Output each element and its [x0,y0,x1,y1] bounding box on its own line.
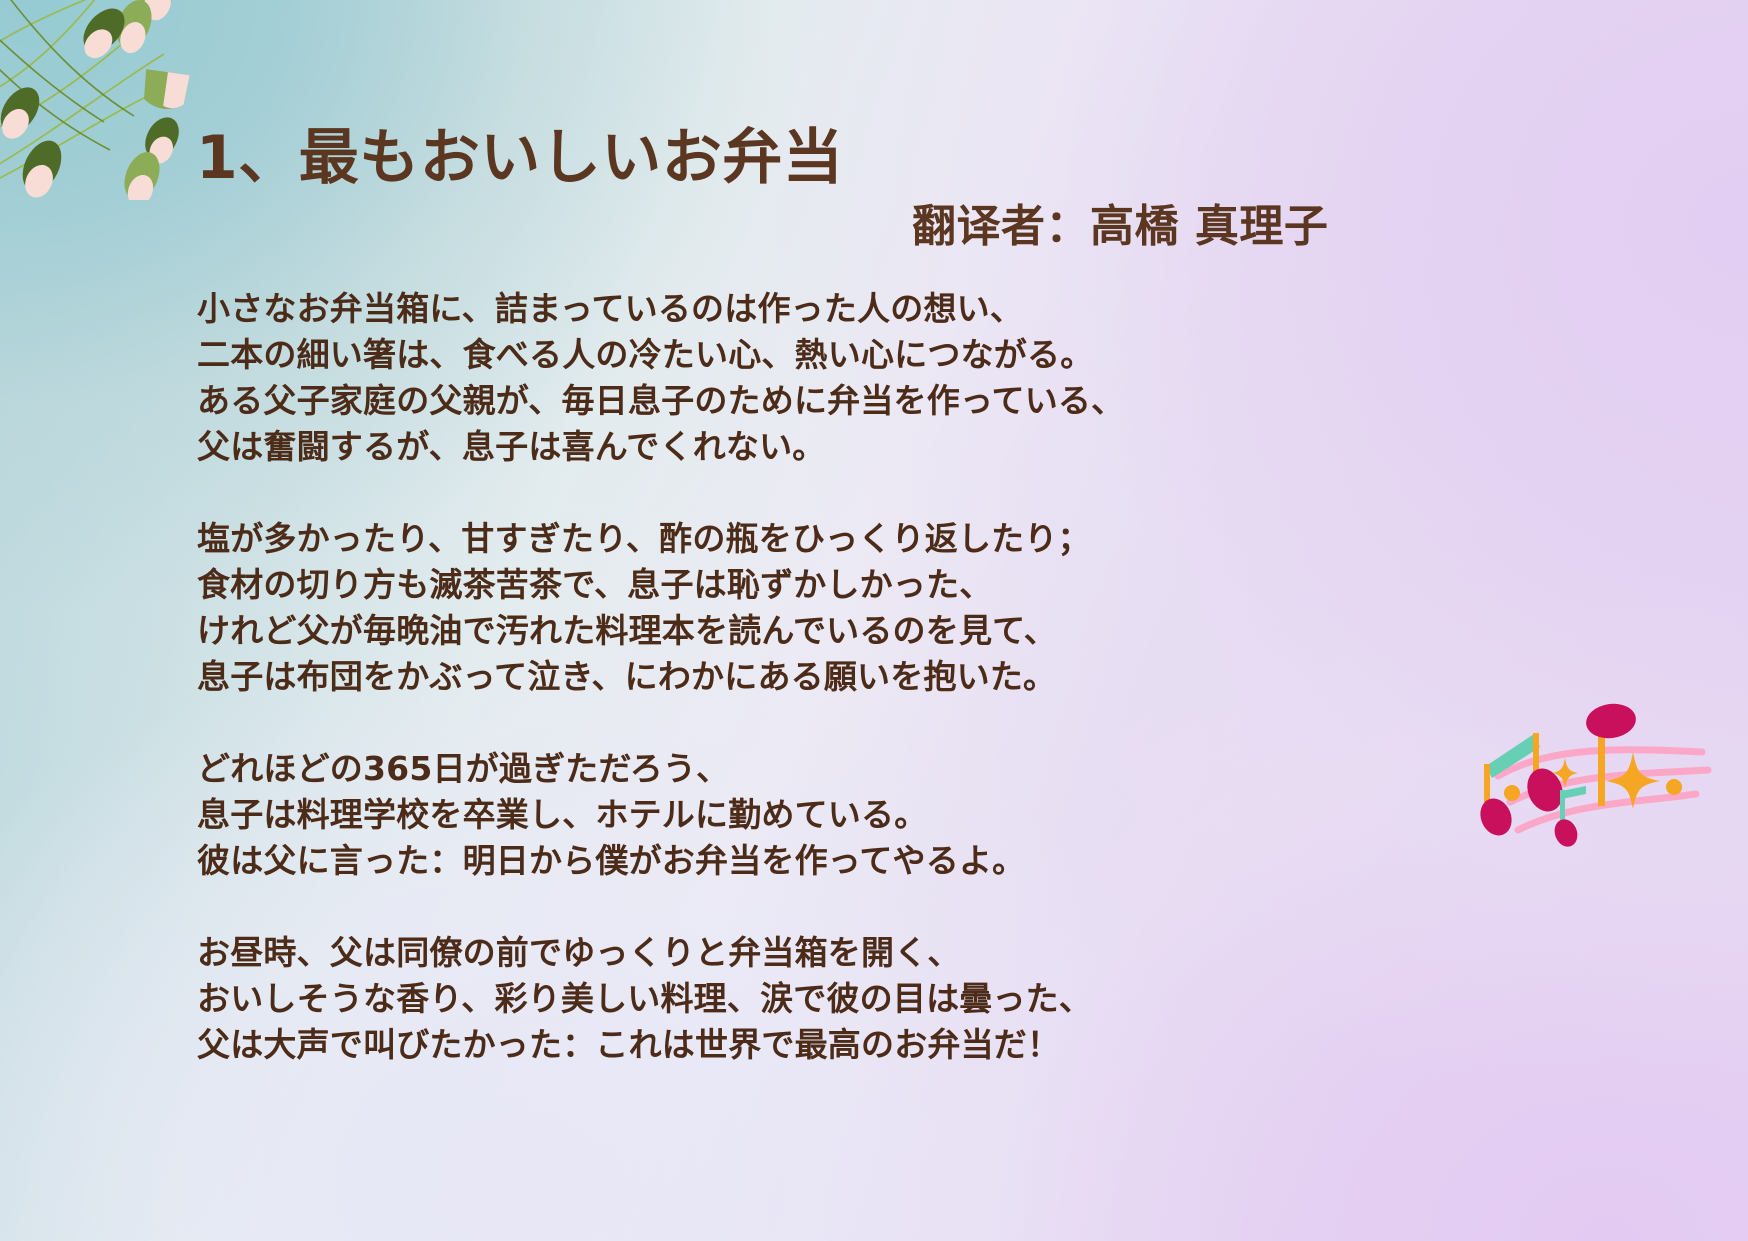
poem-line: 塩が多かったり、甘すぎたり、酢の瓶をひっくり返したり； [197,516,1397,562]
poem-line: ある父子家庭の父親が、毎日息子のために弁当を作っている、 [197,378,1397,424]
poem-line: 食材の切り方も滅茶苦茶で、息子は恥ずかしかった、 [197,562,1397,608]
slide-canvas: 1、最もおいしいお弁当 翻译者：高橋 真理子 小さなお弁当箱に、詰まっているのは… [0,0,1748,1241]
stanza: 塩が多かったり、甘すぎたり、酢の瓶をひっくり返したり； 食材の切り方も滅茶苦茶で… [197,516,1397,700]
poem-line: おいしそうな香り、彩り美しい料理、涙で彼の目は曇った、 [197,976,1397,1022]
music-notes-icon [1470,690,1748,855]
stanza: 小さなお弁当箱に、詰まっているのは作った人の想い、 二本の細い箸は、食べる人の冷… [197,286,1397,470]
poem-line: 息子は料理学校を卒業し、ホテルに勤めている。 [197,792,1397,838]
poem-line: 父は大声で叫びたかった：これは世界で最高のお弁当だ！ [197,1022,1397,1068]
page-title: 1、最もおいしいお弁当 [196,109,843,196]
floral-buds-icon [0,0,216,200]
translator-credit: 翻译者：高橋 真理子 [912,190,1328,254]
poem-line: どれほどの365日が過ぎただろう、 [197,746,1397,792]
poem-line: 小さなお弁当箱に、詰まっているのは作った人の想い、 [197,286,1397,332]
poem-line: けれど父が毎晩油で汚れた料理本を読んでいるのを見て、 [197,608,1397,654]
poem-line: 息子は布団をかぶって泣き、にわかにある願いを抱いた。 [197,654,1397,700]
poem-line: 彼は父に言った：明日から僕がお弁当を作ってやるよ。 [197,838,1397,884]
poem-line: お昼時、父は同僚の前でゆっくりと弁当箱を開く、 [197,930,1397,976]
poem-body: 小さなお弁当箱に、詰まっているのは作った人の想い、 二本の細い箸は、食べる人の冷… [197,286,1397,1068]
stanza: どれほどの365日が過ぎただろう、 息子は料理学校を卒業し、ホテルに勤めている。… [197,746,1397,884]
stanza: お昼時、父は同僚の前でゆっくりと弁当箱を開く、 おいしそうな香り、彩り美しい料理… [197,930,1397,1068]
poem-line: 父は奮闘するが、息子は喜んでくれない。 [197,424,1397,470]
poem-line: 二本の細い箸は、食べる人の冷たい心、熱い心につながる。 [197,332,1397,378]
